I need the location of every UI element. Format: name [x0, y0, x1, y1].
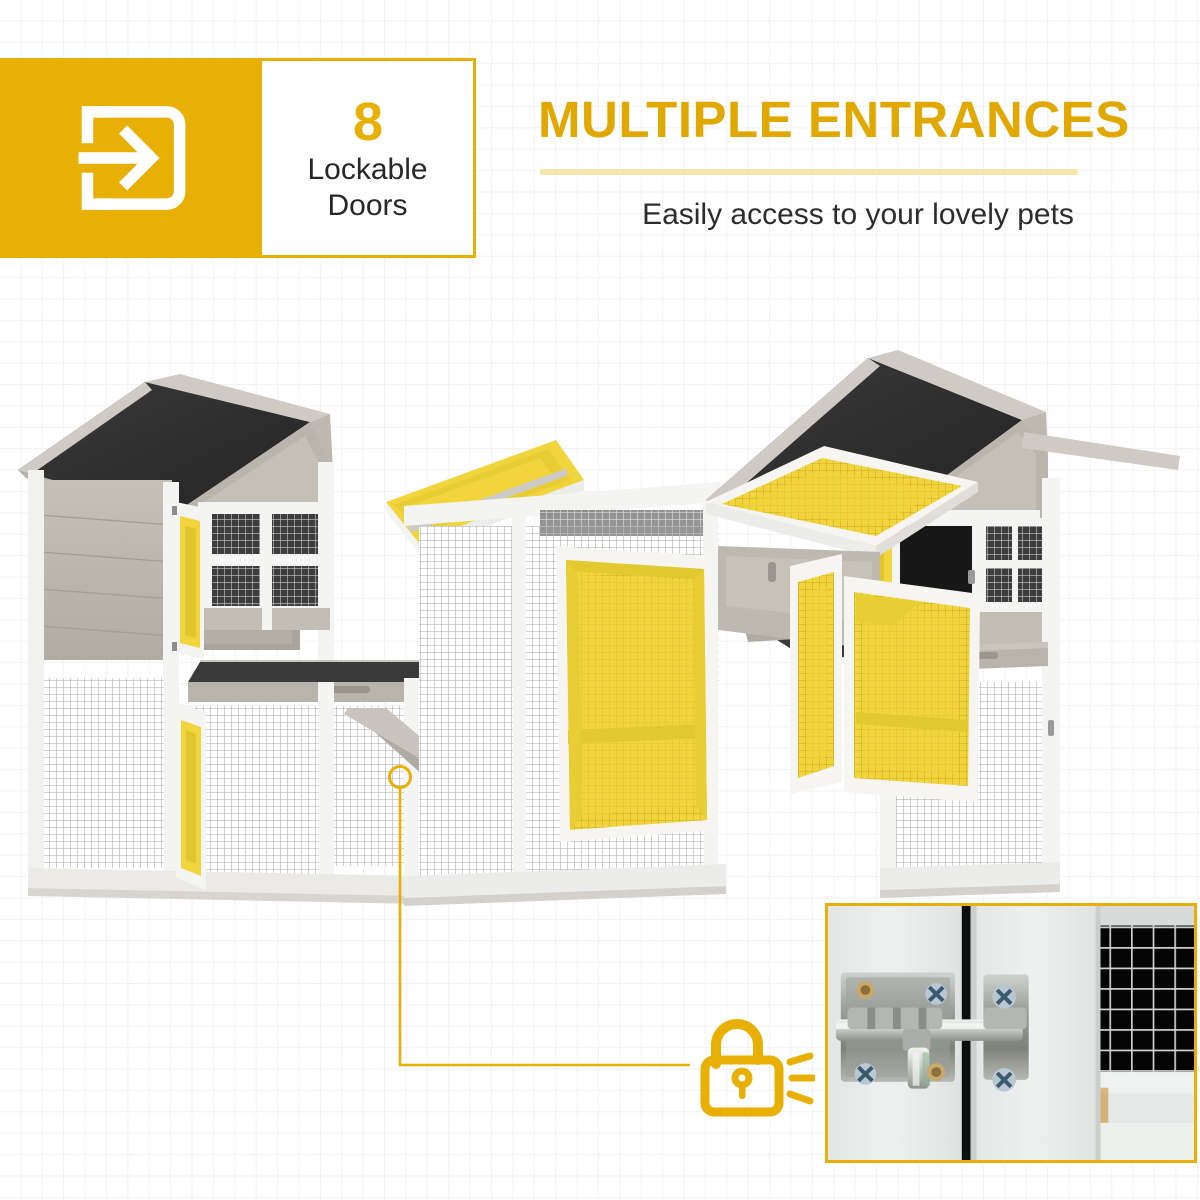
badge-label: Lockable Doors [307, 152, 427, 223]
left-lower-yellow-door [176, 702, 206, 890]
lock-icon-wrapper [697, 1012, 815, 1120]
badge-text-block: 8 Lockable Doors [262, 58, 476, 258]
badge-label-line1: Lockable [307, 152, 427, 187]
latch-photo-art [828, 906, 1194, 1160]
header-title: MULTIPLE ENTRANCES [538, 92, 1178, 148]
middle-run [404, 482, 726, 906]
lockable-doors-badge: 8 Lockable Doors [0, 58, 476, 258]
center-run-yellow-door [556, 546, 716, 842]
badge-label-line2: Doors [307, 188, 427, 223]
latch-closeup-photo [825, 903, 1197, 1163]
right-hutch [706, 350, 1180, 898]
header-subtitle: Easily access to your lovely pets [538, 197, 1178, 233]
header-block: MULTIPLE ENTRANCES Easily access to your… [538, 92, 1178, 233]
right-run-front-door-b [844, 576, 980, 802]
rabbit-hutch-illustration [0, 330, 1200, 950]
badge-count: 8 [353, 97, 382, 148]
badge-icon-block [0, 58, 262, 258]
enter-arrow-icon [67, 94, 195, 222]
right-run-front-door-a [790, 554, 842, 794]
header-divider [540, 169, 1078, 175]
left-upper-yellow-door [172, 502, 204, 660]
product-image [0, 330, 1200, 950]
open-padlock-icon [697, 1012, 815, 1120]
